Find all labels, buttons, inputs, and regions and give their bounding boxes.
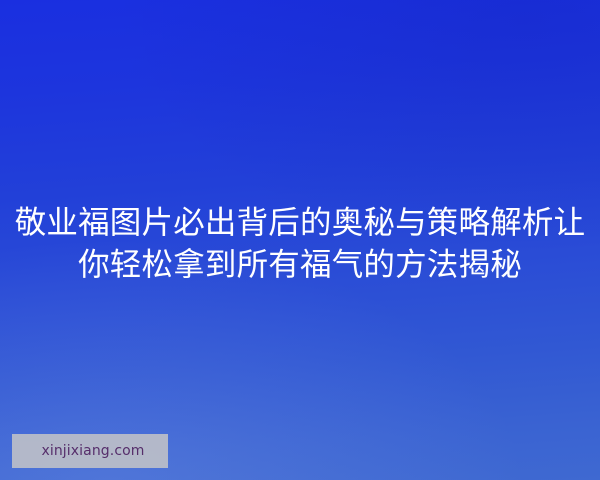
headline-line-1: 敬业福图片必出背后的奥秘与策略解析让 [14,202,586,244]
headline-line-2: 你轻松拿到所有福气的方法揭秘 [14,244,586,286]
watermark-site-label: xinjixiang.com [35,444,144,458]
watermark-badge: xinjixiang.com [12,434,168,468]
banner-image: 敬业福图片必出背后的奥秘与策略解析让 你轻松拿到所有福气的方法揭秘 xinjix… [0,0,600,480]
headline-text: 敬业福图片必出背后的奥秘与策略解析让 你轻松拿到所有福气的方法揭秘 [0,202,600,286]
